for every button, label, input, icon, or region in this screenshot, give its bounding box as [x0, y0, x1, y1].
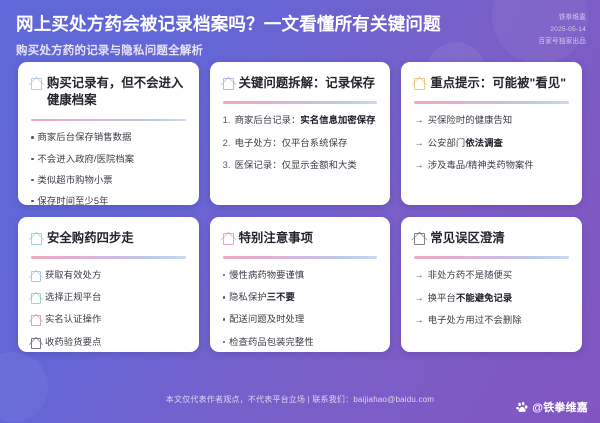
bullet-dot-icon — [223, 274, 226, 277]
list-item-emphasis: 依法调查 — [465, 138, 503, 148]
card-header: 特别注意事项 — [223, 230, 378, 247]
list-item: 隐私保护三不要 — [223, 291, 378, 304]
list-item-label: 公安部门 — [428, 138, 466, 148]
tofu-box-icon — [414, 78, 425, 90]
list-item-label: 实名认证操作 — [45, 313, 186, 326]
list-item: 保存时间至少5年 — [31, 195, 186, 205]
divider — [31, 256, 186, 259]
card-list: →非处方药不是随便买 →换平台不能避免记录 →电子处方用过不会删除 — [414, 269, 569, 328]
list-item: →电子处方用过不会删除 — [414, 314, 569, 327]
card-list: →买保险时的健康告知 →公安部门依法调查 →涉及毒品/精神类药物案件 — [414, 114, 569, 173]
list-item-label: 商家后台保存销售数据 — [38, 131, 186, 144]
bullet-dot-icon — [31, 200, 34, 203]
list-item: 慢性病药物要谨慎 — [223, 269, 378, 282]
card-header: 购买记录有，但不会进入健康档案 — [31, 75, 186, 110]
list-item: 检查药品包装完整性 — [223, 336, 378, 349]
divider — [414, 101, 569, 104]
arrow-icon: → — [414, 137, 423, 150]
divider — [414, 256, 569, 259]
bullet-dot-icon — [31, 158, 34, 161]
card-title: 购买记录有，但不会进入健康档案 — [47, 75, 186, 110]
list-item-label: 电子处方：仅平台系统保存 — [235, 137, 378, 150]
card-list: 商家后台保存销售数据 不会进入政府/医院档案 类似超市购物小票 保存时间至少5年 — [31, 131, 186, 205]
divider — [223, 101, 378, 104]
watermark-label: @铁拳维嘉 — [532, 399, 588, 415]
list-item-label: 配送问题及时处理 — [229, 313, 377, 326]
list-number: 2. — [223, 137, 231, 150]
footer-disclaimer: 本文仅代表作者观点，不代表平台立场 | 联系我们：baijiahao@baidu… — [0, 394, 600, 405]
bullet-dot-icon — [223, 341, 226, 344]
list-item-label: 电子处方用过不会删除 — [428, 314, 569, 327]
list-item-label: 收药验货要点 — [45, 336, 186, 349]
tofu-box-icon — [31, 338, 41, 349]
header-meta: 铁拳维嘉 2025-05-14 百家号独家出品 — [538, 12, 586, 49]
list-item-label: 商家后台记录： — [235, 115, 301, 125]
list-item: 实名认证操作 — [31, 313, 186, 326]
list-item-label: 涉及毒品/精神类药物案件 — [428, 159, 569, 172]
cards-grid: 购买记录有，但不会进入健康档案 商家后台保存销售数据 不会进入政府/医院档案 类… — [0, 62, 600, 352]
card-list: 获取有效处方 选择正规平台 实名认证操作 收药验货要点 — [31, 269, 186, 349]
bullet-dot-icon — [31, 179, 34, 182]
list-item-emphasis: 三不要 — [267, 292, 295, 302]
list-item: 商家后台保存销售数据 — [31, 131, 186, 144]
card-key-questions: 关键问题拆解：记录保存 1.商家后台记录：实名信息加密保存 2.电子处方：仅平台… — [210, 62, 391, 205]
page-subtitle: 购买处方药的记录与隐私问题全解析 — [16, 42, 584, 58]
list-item-label: 不会进入政府/医院档案 — [38, 153, 186, 166]
list-item-label: 买保险时的健康告知 — [428, 114, 569, 127]
list-item-label: 保存时间至少5年 — [38, 195, 186, 205]
card-title: 安全购药四步走 — [47, 230, 134, 247]
list-item-label: 获取有效处方 — [45, 269, 186, 282]
meta-author: 铁拳维嘉 — [538, 12, 586, 24]
list-item-label: 医保记录：仅显示金额和大类 — [235, 159, 378, 172]
list-item: →买保险时的健康告知 — [414, 114, 569, 127]
card-list: 慢性病药物要谨慎 隐私保护三不要 配送问题及时处理 检查药品包装完整性 — [223, 269, 378, 349]
watermark: @铁拳维嘉 — [516, 399, 588, 415]
tofu-box-icon — [31, 271, 41, 282]
card-title: 特别注意事项 — [239, 230, 313, 247]
list-item-label: 检查药品包装完整性 — [229, 336, 377, 349]
card-purchase-record: 购买记录有，但不会进入健康档案 商家后台保存销售数据 不会进入政府/医院档案 类… — [18, 62, 199, 205]
page-title: 网上买处方药会被记录档案吗？一文看懂所有关键问题 — [16, 14, 584, 36]
card-title: 常见误区澄清 — [430, 230, 504, 247]
arrow-icon: → — [414, 292, 423, 305]
tofu-box-icon — [31, 233, 42, 245]
list-item-label: 隐私保护 — [229, 292, 267, 302]
card-key-warning: 重点提示：可能被"看见" →买保险时的健康告知 →公安部门依法调查 →涉及毒品/… — [401, 62, 582, 205]
card-safe-steps: 安全购药四步走 获取有效处方 选择正规平台 实名认证操作 收药验货要点 — [18, 217, 199, 352]
card-header: 关键问题拆解：记录保存 — [223, 75, 378, 92]
tofu-box-icon — [223, 233, 234, 245]
list-item: →涉及毒品/精神类药物案件 — [414, 159, 569, 172]
bullet-dot-icon — [223, 318, 226, 321]
list-item: →换平台不能避免记录 — [414, 292, 569, 305]
tofu-box-icon — [31, 78, 42, 90]
card-title: 关键问题拆解：记录保存 — [239, 75, 375, 92]
list-item-label: 慢性病药物要谨慎 — [229, 269, 377, 282]
baidu-paw-icon — [516, 401, 529, 414]
tofu-box-icon — [31, 293, 41, 304]
footer: 本文仅代表作者观点，不代表平台立场 | 联系我们：baijiahao@baidu… — [0, 386, 600, 423]
list-item: 类似超市购物小票 — [31, 174, 186, 187]
list-item-label: 换平台 — [428, 293, 456, 303]
list-item-emphasis: 不能避免记录 — [456, 293, 512, 303]
list-item: 3.医保记录：仅显示金额和大类 — [223, 159, 378, 172]
poster-infographic: 网上买处方药会被记录档案吗？一文看懂所有关键问题 购买处方药的记录与隐私问题全解… — [0, 0, 600, 423]
list-item: →非处方药不是随便买 — [414, 269, 569, 282]
arrow-icon: → — [414, 114, 423, 127]
card-header: 安全购药四步走 — [31, 230, 186, 247]
tofu-box-icon — [223, 78, 234, 90]
divider — [223, 256, 378, 259]
list-item-label: 非处方药不是随便买 — [428, 269, 569, 282]
card-header: 常见误区澄清 — [414, 230, 569, 247]
list-item: 收药验货要点 — [31, 336, 186, 349]
meta-source: 百家号独家出品 — [538, 36, 586, 48]
list-item: 1.商家后台记录：实名信息加密保存 — [223, 114, 378, 127]
card-list: 1.商家后台记录：实名信息加密保存 2.电子处方：仅平台系统保存 3.医保记录：… — [223, 114, 378, 173]
list-number: 3. — [223, 159, 231, 172]
card-title: 重点提示：可能被"看见" — [430, 75, 566, 92]
bullet-dot-icon — [223, 296, 226, 299]
list-item: 2.电子处方：仅平台系统保存 — [223, 137, 378, 150]
arrow-icon: → — [414, 269, 423, 282]
card-misconceptions: 常见误区澄清 →非处方药不是随便买 →换平台不能避免记录 →电子处方用过不会删除 — [401, 217, 582, 352]
list-item-label: 选择正规平台 — [45, 291, 186, 304]
list-item: →公安部门依法调查 — [414, 137, 569, 150]
bullet-dot-icon — [31, 136, 34, 139]
card-special-notes: 特别注意事项 慢性病药物要谨慎 隐私保护三不要 配送问题及时处理 检查药品包装完… — [210, 217, 391, 352]
arrow-icon: → — [414, 314, 423, 327]
card-header: 重点提示：可能被"看见" — [414, 75, 569, 92]
divider — [31, 119, 186, 122]
list-number: 1. — [223, 114, 231, 127]
header: 网上买处方药会被记录档案吗？一文看懂所有关键问题 购买处方药的记录与隐私问题全解… — [0, 0, 600, 62]
list-item: 不会进入政府/医院档案 — [31, 153, 186, 166]
arrow-icon: → — [414, 159, 423, 172]
list-item: 选择正规平台 — [31, 291, 186, 304]
meta-date: 2025-05-14 — [538, 24, 586, 36]
list-item: 获取有效处方 — [31, 269, 186, 282]
list-item-emphasis: 实名信息加密保存 — [300, 115, 375, 125]
tofu-box-icon — [414, 233, 425, 245]
list-item: 配送问题及时处理 — [223, 313, 378, 326]
list-item-label: 类似超市购物小票 — [38, 174, 186, 187]
tofu-box-icon — [31, 315, 41, 326]
